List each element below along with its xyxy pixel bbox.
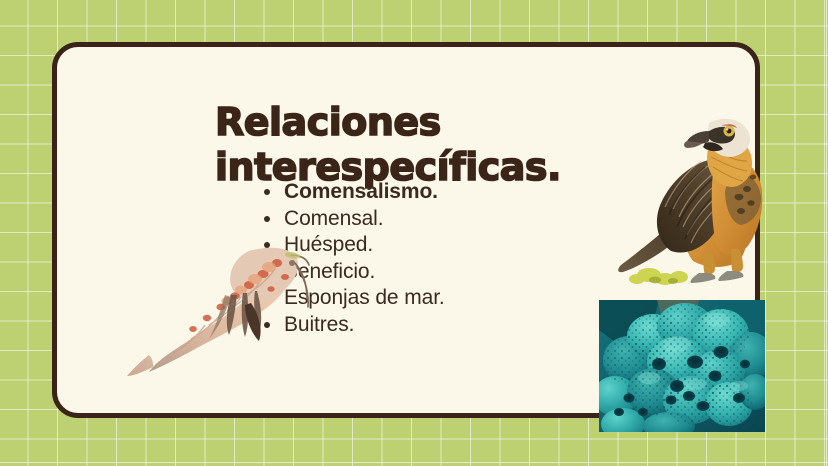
sponges-photo — [599, 300, 765, 432]
shrimp-photo — [125, 233, 310, 378]
page-title: Relaciones interespecíficas. — [215, 100, 635, 190]
content-card: Relaciones interespecíficas. Comensalism… — [52, 42, 760, 418]
list-item: Comensalismo. — [262, 179, 445, 206]
list-item: Comensal. — [262, 206, 445, 233]
bullet-dot-icon — [264, 216, 270, 222]
list-item-label: Comensalismo. — [284, 180, 438, 203]
list-item-label: Comensal. — [284, 207, 383, 230]
bullet-dot-icon — [264, 189, 270, 195]
slide-canvas: Relaciones interespecíficas. Comensalism… — [0, 0, 828, 466]
vulture-photo — [613, 103, 793, 288]
